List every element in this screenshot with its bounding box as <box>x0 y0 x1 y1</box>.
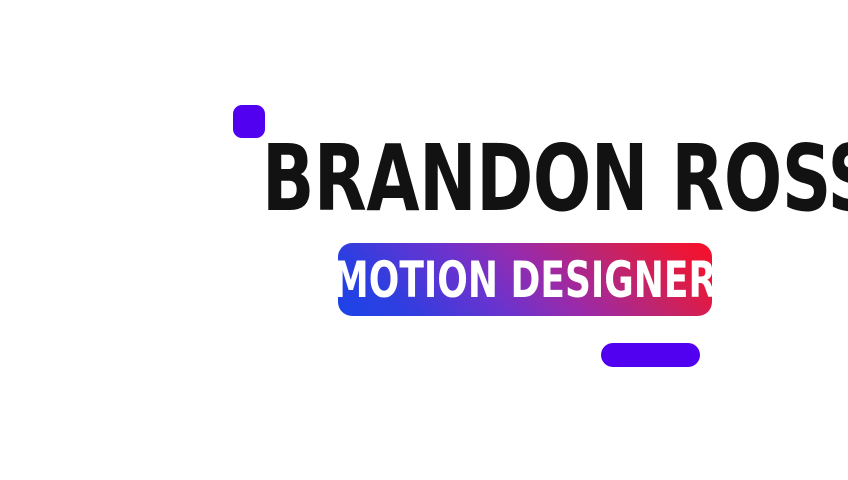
role-banner-label: MOTION DESIGNER <box>338 255 712 305</box>
violet-square-accent-icon <box>233 105 265 138</box>
page-title: BRANDON ROSS <box>262 133 640 225</box>
violet-pill-accent-icon <box>601 343 700 367</box>
role-banner: MOTION DESIGNER <box>338 243 712 316</box>
title-card-canvas: BRANDON ROSS MOTION DESIGNER <box>0 0 848 480</box>
